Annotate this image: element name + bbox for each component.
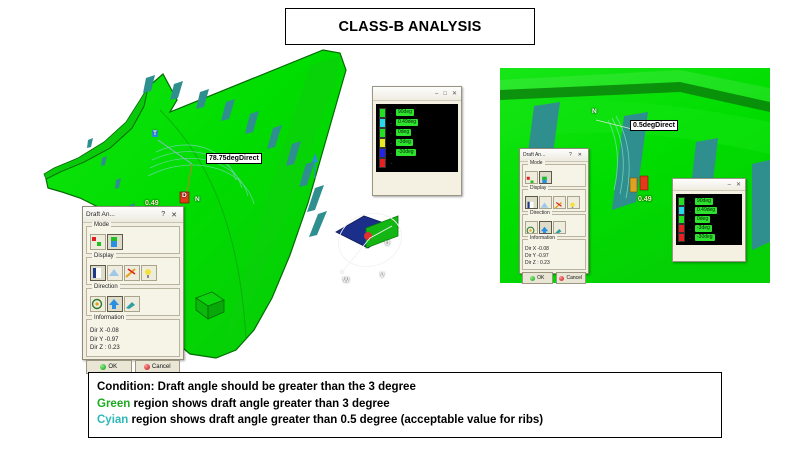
display-legend: Display [92, 253, 116, 259]
axis-label-d: D [182, 192, 187, 199]
caption-line-2: Green region shows draft angle greater t… [97, 396, 713, 413]
dir-z-value: Dir Z : 0.23 [525, 260, 583, 267]
direction-legend: Direction [528, 210, 552, 216]
axis-label-w: W [343, 277, 349, 284]
legend-swatch [379, 158, 386, 168]
display-arrows-icon[interactable] [553, 196, 566, 209]
caption-line-2-rest: region shows draft angle greater than 3 … [130, 398, 389, 410]
dir-z-value: Dir Z : 0.23 [90, 344, 176, 353]
dialog-right-actions: OK Cancel [522, 272, 586, 284]
legend-row: - 90deg [379, 108, 455, 117]
direction-group: Direction [86, 288, 180, 316]
legend-label: -30deg [396, 149, 416, 156]
information-legend: Information [528, 235, 557, 241]
mode-buttons [90, 234, 176, 250]
dialog-body: Mode Display [83, 223, 183, 377]
legend-swatch [379, 138, 386, 148]
legend-label: 0.49deg [396, 119, 418, 126]
ok-button[interactable]: OK [522, 272, 553, 284]
display-color-scale-icon[interactable] [525, 196, 538, 209]
mode-legend: Mode [92, 222, 111, 228]
direction-compass-icon[interactable] [90, 296, 106, 312]
mode-group: Mode [522, 164, 586, 187]
direction-reverse-icon[interactable] [107, 296, 123, 312]
legend-row: - -3deg [678, 224, 740, 232]
legend-row: - -30deg [678, 233, 740, 241]
direction-buttons [525, 221, 583, 234]
axis-label-t: T [152, 130, 158, 137]
mode-two-color-icon[interactable] [525, 171, 538, 184]
legend-swatch [678, 197, 685, 206]
legend-tick: - [688, 208, 692, 213]
legend-label: -3deg [695, 225, 712, 232]
legend-row: - -30deg [379, 148, 455, 157]
dialog-right-title: Draft An... [523, 152, 566, 158]
close-icon[interactable]: ✕ [168, 211, 180, 219]
ok-icon [530, 276, 535, 281]
right-angle-value: 0.49 [638, 196, 652, 203]
cancel-icon [559, 276, 564, 281]
legend-tick: - [389, 160, 393, 165]
direction-compass-icon[interactable] [525, 221, 538, 234]
display-light-icon[interactable] [567, 196, 580, 209]
display-group: Display [86, 257, 180, 285]
right-angle-annotation: 0.5degDirect [630, 120, 678, 131]
mode-group: Mode [86, 226, 180, 254]
ok-button-label: OK [108, 364, 117, 370]
legend-swatch [678, 206, 685, 215]
dir-y-value: Dir Y -0.97 [525, 253, 583, 260]
cancel-icon [144, 364, 150, 370]
dialog-title: Draft An... [86, 211, 158, 218]
mode-two-color-icon[interactable] [90, 234, 106, 250]
legend-right-close-icon[interactable]: ✕ [736, 181, 741, 188]
color-legend-window-right[interactable]: – ✕ - 90deg - 0.49deg - 0deg - -3de [672, 178, 746, 262]
cancel-button-label: Cancel [152, 364, 171, 370]
caption-green-word: Green [97, 398, 130, 410]
information-group: Information Dir X -0.08 Dir Y -0.97 Dir … [522, 239, 586, 270]
display-shading-icon[interactable] [539, 196, 552, 209]
legend-label: 90deg [396, 109, 414, 116]
mode-gradient-icon[interactable] [107, 234, 123, 250]
legend-row: - 90deg [678, 197, 740, 205]
legend-row: - -3deg [379, 138, 455, 147]
direction-pick-icon[interactable] [124, 296, 140, 312]
draft-analysis-dialog[interactable]: Draft An... ? ✕ Mode Display [82, 206, 184, 360]
ok-button-label: OK [537, 275, 544, 281]
help-icon[interactable]: ? [158, 211, 168, 218]
direction-legend: Direction [92, 284, 120, 290]
axis-label-n: N [195, 196, 200, 203]
legend-tick: - [389, 130, 393, 135]
dialog-titlebar[interactable]: Draft An... ? ✕ [83, 207, 183, 223]
legend-right-titlebar[interactable]: – ✕ [673, 179, 745, 191]
information-group: Information Dir X -0.08 Dir Y -0.97 Dir … [86, 319, 180, 357]
display-buttons [525, 196, 583, 209]
legend-label: 0deg [396, 129, 411, 136]
legend-swatch [379, 128, 386, 138]
legend-minimize-icon[interactable]: – [435, 91, 438, 97]
main-angle-annotation: 78.75degDirect [206, 153, 262, 164]
legend-right-minimize-icon[interactable]: – [728, 182, 731, 188]
display-light-icon[interactable] [141, 265, 157, 281]
caption-line-1: Condition: Draft angle should be greater… [97, 379, 713, 396]
dir-x-value: Dir X -0.08 [90, 327, 176, 336]
page-title: CLASS-B ANALYSIS [338, 19, 481, 35]
legend-row: - 0.49deg [379, 118, 455, 127]
direction-reverse-icon[interactable] [539, 221, 552, 234]
close-icon[interactable]: ✕ [575, 152, 585, 158]
direction-buttons [90, 296, 176, 312]
axis-label-u: U [385, 240, 390, 247]
legend-tick: - [688, 226, 692, 231]
legend-swatch [678, 224, 685, 233]
caption-line-3: Cyian region shows draft angle greater t… [97, 412, 713, 429]
legend-close-icon[interactable]: ✕ [452, 90, 457, 97]
display-group: Display [522, 189, 586, 212]
caption-line-3-rest: region shows draft angle greater than 0.… [128, 414, 543, 426]
display-buttons [90, 265, 176, 281]
legend-swatch [678, 215, 685, 224]
legend-titlebar[interactable]: – □ ✕ [373, 87, 461, 101]
legend-label: 90deg [695, 198, 713, 205]
direction-group: Direction [522, 214, 586, 237]
cancel-button[interactable]: Cancel [556, 272, 587, 284]
legend-tick: - [688, 217, 692, 222]
legend-row: - [379, 158, 455, 167]
legend-label: 0deg [695, 216, 710, 223]
dir-y-value: Dir Y -0.97 [90, 336, 176, 345]
draft-analysis-dialog-right[interactable]: Draft An... ? ✕ Mode Display [519, 148, 589, 274]
dir-x-value: Dir X -0.08 [525, 246, 583, 253]
screenshot-root: CLASS-B ANALYSIS [0, 0, 800, 450]
help-icon[interactable]: ? [566, 152, 575, 158]
dialog-right-body: Mode Display [520, 162, 588, 286]
display-legend: Display [528, 185, 548, 191]
legend-tick: - [389, 120, 393, 125]
color-legend-window[interactable]: – □ ✕ - 90deg - 0.49deg - 0deg - [372, 86, 462, 196]
legend-row: - 0.49deg [678, 206, 740, 214]
axis-triad-widget [332, 205, 409, 274]
caption-cyan-word: Cyian [97, 414, 128, 426]
legend-maximize-icon[interactable]: □ [443, 91, 447, 97]
caption-box: Condition: Draft angle should be greater… [88, 372, 722, 438]
legend-right-canvas: - 90deg - 0.49deg - 0deg - -3deg - - [676, 194, 742, 245]
mode-buttons [525, 171, 583, 184]
display-arrows-icon[interactable] [124, 265, 140, 281]
ok-icon [100, 364, 106, 370]
direction-pick-icon[interactable] [553, 221, 566, 234]
cancel-button-label: Cancel [566, 275, 582, 281]
legend-canvas: - 90deg - 0.49deg - 0deg - -3deg - - [376, 104, 458, 172]
legend-tick: - [389, 150, 393, 155]
legend-label: 0.49deg [695, 207, 717, 214]
display-shading-icon[interactable] [107, 265, 123, 281]
legend-label: -3deg [396, 139, 413, 146]
axis-label-v: V [380, 272, 384, 279]
legend-swatch [379, 118, 386, 128]
right-axis-label-n: N [592, 108, 597, 115]
legend-row: - 0deg [678, 215, 740, 223]
legend-tick: - [688, 199, 692, 204]
mode-gradient-icon[interactable] [539, 171, 552, 184]
legend-row: - 0deg [379, 128, 455, 137]
information-legend: Information [92, 315, 126, 321]
legend-swatch [678, 233, 685, 242]
legend-swatch [379, 108, 386, 118]
legend-label: -30deg [695, 234, 715, 241]
legend-tick: - [389, 140, 393, 145]
legend-swatch [379, 148, 386, 158]
display-color-scale-icon[interactable] [90, 265, 106, 281]
mode-legend: Mode [528, 160, 545, 166]
legend-tick: - [389, 110, 393, 115]
legend-tick: - [688, 235, 692, 240]
